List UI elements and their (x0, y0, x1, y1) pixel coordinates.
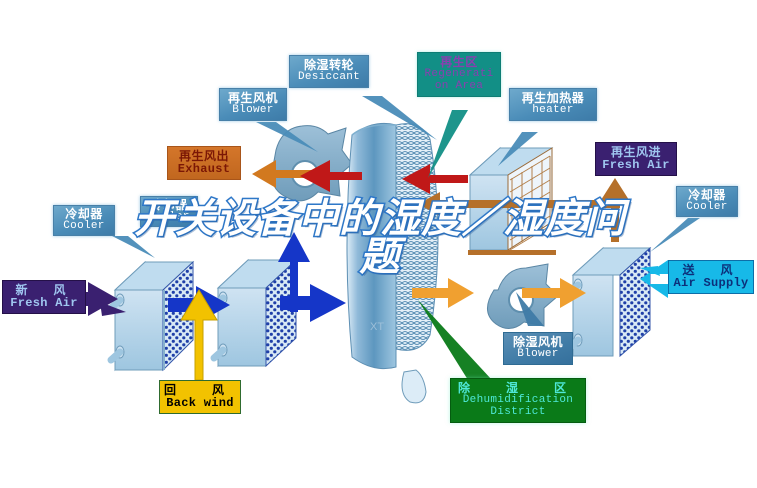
label-regeneration-area-cn: 再生区 (421, 56, 497, 69)
regeneration-blower-unit (272, 126, 352, 201)
label-regeneration-blower[interactable]: 再生风机 Blower (219, 88, 287, 121)
label-dehumidification-blower-en: Blower (508, 349, 568, 361)
label-back-wind[interactable]: 回 风 Back wind (159, 380, 241, 414)
label-regeneration-blower-cn: 再生风机 (224, 92, 282, 105)
label-regeneration-fresh-air-cn: 再生风进 (600, 146, 672, 159)
overlay-headline-line2: 题 (60, 238, 700, 276)
label-fresh-air-inlet-cn: 新 风 (7, 284, 81, 297)
label-dehumidification-district-cn: 除 湿 区 (453, 382, 583, 395)
label-regeneration-fresh-air[interactable]: 再生风进 Fresh Air (595, 142, 677, 176)
overlay-headline: 开关设备中的湿度／湿度问 题 (60, 200, 700, 276)
label-back-wind-en: Back wind (164, 397, 236, 410)
overlay-headline-line1: 开关设备中的湿度／湿度问 (60, 200, 700, 238)
watermark: XT (370, 321, 384, 333)
diagram-canvas: XT (0, 0, 757, 488)
label-fresh-air-inlet[interactable]: 新 风 Fresh Air (2, 280, 86, 314)
label-regeneration-exhaust[interactable]: 再生风出 Exhaust (167, 146, 241, 180)
label-air-supply-en: Air Supply (672, 277, 750, 290)
cooler-unit-left (111, 262, 193, 370)
label-regeneration-area[interactable]: 再生区 Regenerati on Area (417, 52, 501, 97)
label-desiccant-wheel-cn: 除湿转轮 (294, 59, 364, 72)
label-regeneration-heater[interactable]: 再生加热器 heater (509, 88, 597, 121)
label-regeneration-area-en-line2: on Area (421, 81, 497, 93)
label-back-wind-cn: 回 风 (164, 384, 236, 397)
label-desiccant-wheel[interactable]: 除湿转轮 Desiccant (289, 55, 369, 88)
label-dehumidification-district[interactable]: 除 湿 区 Dehumidification District (450, 378, 586, 423)
label-desiccant-wheel-en: Desiccant (294, 72, 364, 84)
label-regeneration-heater-cn: 再生加热器 (514, 92, 592, 105)
label-dehumidification-blower-cn: 除湿风机 (508, 336, 568, 349)
label-dehumidification-blower[interactable]: 除湿风机 Blower (503, 332, 573, 365)
label-regeneration-blower-en: Blower (224, 105, 282, 117)
label-regeneration-exhaust-cn: 再生风出 (172, 150, 236, 163)
label-regeneration-fresh-air-en: Fresh Air (600, 159, 672, 172)
label-regeneration-exhaust-en: Exhaust (172, 163, 236, 176)
label-dehumidification-district-en-line2: District (453, 407, 583, 419)
label-regeneration-heater-en: heater (514, 105, 592, 117)
label-fresh-air-inlet-en: Fresh Air (7, 297, 81, 310)
